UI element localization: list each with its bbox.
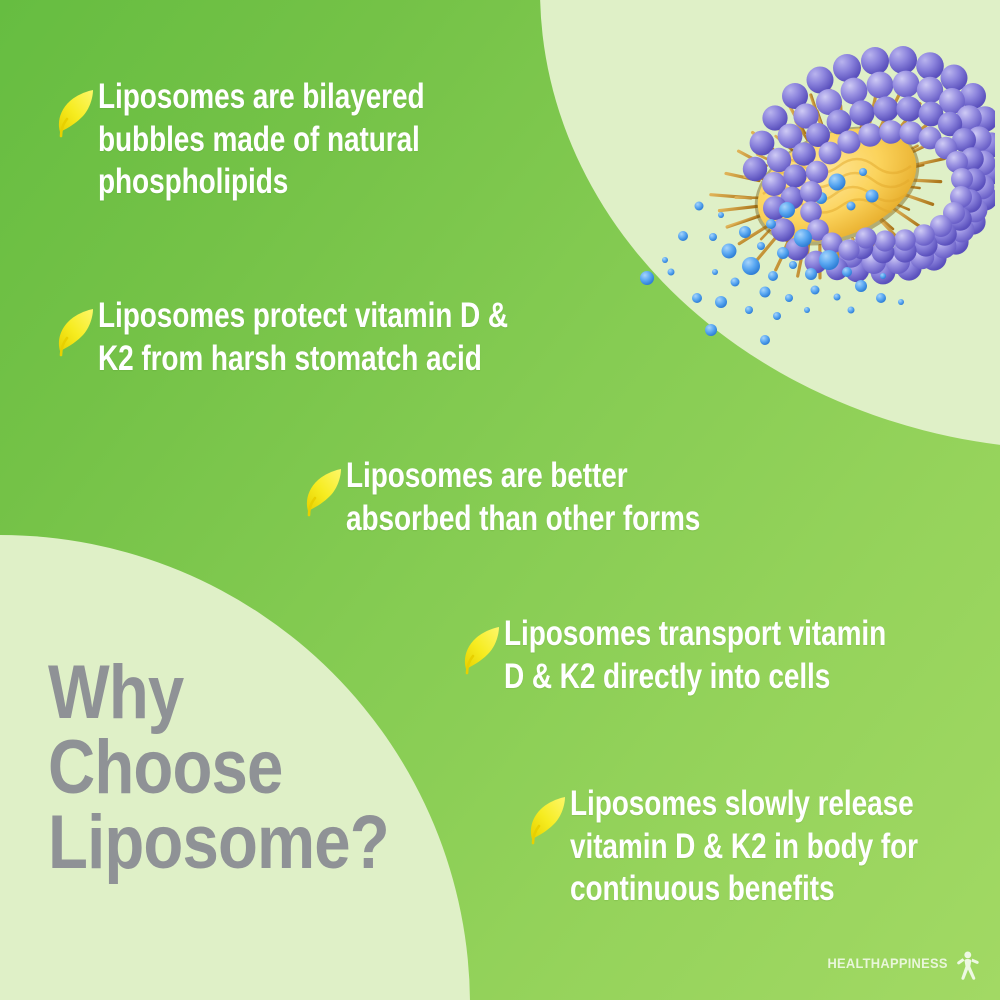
benefit-item-4: Liposomes transport vitamin D & K2 direc… bbox=[458, 613, 1000, 698]
leaf-icon bbox=[52, 305, 98, 357]
benefit-text: Liposomes are better absorbed than other… bbox=[346, 455, 858, 540]
benefit-item-5: Liposomes slowly release vitamin D & K2 … bbox=[524, 783, 1000, 911]
leaf-icon bbox=[300, 465, 346, 517]
benefit-item-2: Liposomes protect vitamin D & K2 from ha… bbox=[52, 295, 738, 380]
human-figure-icon bbox=[952, 946, 982, 980]
brand-logo: HEALTHAPPINESS bbox=[817, 946, 982, 980]
benefit-text: Liposomes protect vitamin D & K2 from ha… bbox=[98, 295, 610, 380]
page-title: Why Choose Liposome? bbox=[48, 655, 389, 881]
leaf-icon bbox=[458, 623, 504, 675]
infographic-poster: Liposomes are bilayered bubbles made of … bbox=[0, 0, 1000, 1000]
leaf-icon bbox=[524, 793, 570, 845]
benefit-text: Liposomes are bilayered bubbles made of … bbox=[98, 76, 610, 204]
benefit-text: Liposomes transport vitamin D & K2 direc… bbox=[504, 613, 1000, 698]
benefit-item-3: Liposomes are better absorbed than other… bbox=[300, 455, 986, 540]
logo-wordmark: HEALTHAPPINESS bbox=[828, 955, 948, 971]
leaf-icon bbox=[52, 86, 98, 138]
benefit-item-1: Liposomes are bilayered bubbles made of … bbox=[52, 76, 738, 204]
benefit-text: Liposomes slowly release vitamin D & K2 … bbox=[570, 783, 1000, 911]
